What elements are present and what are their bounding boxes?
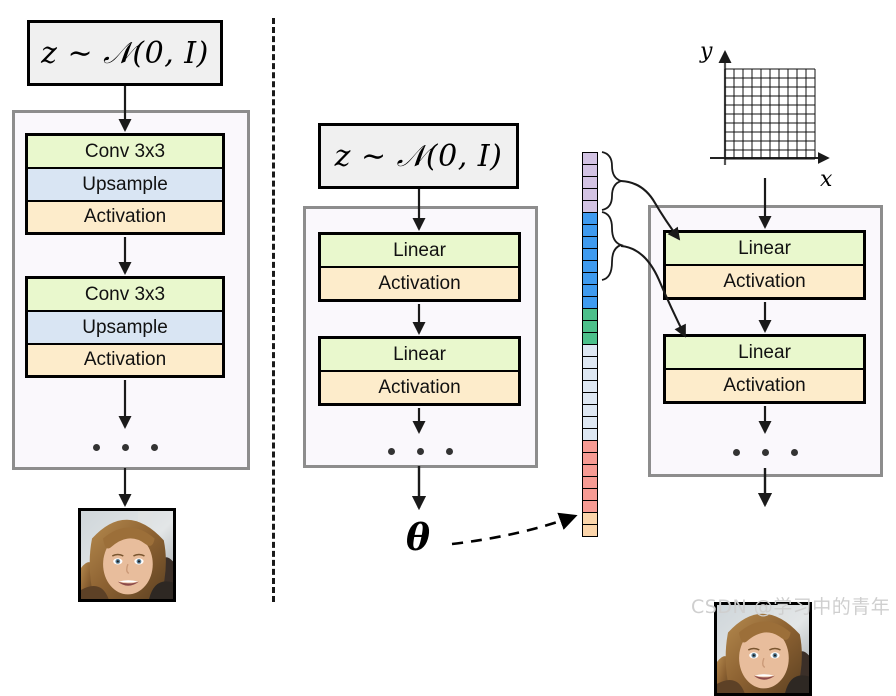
middle-ellipsis xyxy=(380,444,460,458)
vector-cell xyxy=(583,177,597,189)
right-block-2: Linear Activation xyxy=(663,334,866,404)
vector-cell xyxy=(583,261,597,273)
layer-activation: Activation xyxy=(28,202,222,232)
vector-cell xyxy=(583,441,597,453)
layer-linear: Linear xyxy=(321,339,518,370)
vector-cell xyxy=(583,321,597,333)
layer-linear: Linear xyxy=(666,233,863,264)
layer-activation: Activation xyxy=(28,345,222,375)
vector-cell xyxy=(583,309,597,321)
vector-cell xyxy=(583,333,597,345)
vector-cell xyxy=(583,525,597,536)
vector-cell xyxy=(583,453,597,465)
vector-cell xyxy=(583,405,597,417)
vector-cell xyxy=(583,297,597,309)
watermark: CSDN @学习中的青年 xyxy=(691,592,890,619)
left-output-photo xyxy=(78,508,176,602)
right-block-1: Linear Activation xyxy=(663,230,866,300)
middle-latent-label: z ∼ 𝒩(0, I) xyxy=(335,139,503,174)
vector-cell xyxy=(583,513,597,525)
middle-latent-box: z ∼ 𝒩(0, I) xyxy=(318,123,519,189)
layer-linear: Linear xyxy=(666,337,863,368)
brace-group-2 xyxy=(602,212,621,280)
layer-linear: Linear xyxy=(321,235,518,266)
layer-upsample: Upsample xyxy=(28,312,222,342)
grid-x-label: x xyxy=(820,167,833,192)
vector-cell xyxy=(583,153,597,165)
portrait-illustration xyxy=(81,511,173,599)
vector-cell xyxy=(583,393,597,405)
layer-upsample: Upsample xyxy=(28,169,222,199)
vector-cell xyxy=(583,369,597,381)
layer-activation: Activation xyxy=(321,372,518,403)
arrow-theta-to-vector xyxy=(452,516,575,544)
figure-canvas: z ∼ 𝒩(0, I) Conv 3x3 Upsample Activation… xyxy=(0,0,896,621)
vector-cell xyxy=(583,237,597,249)
right-ellipsis xyxy=(725,445,805,459)
vector-cell xyxy=(583,285,597,297)
grid-y-label: y xyxy=(699,39,713,64)
middle-block-2: Linear Activation xyxy=(318,336,521,406)
left-ellipsis xyxy=(85,440,165,454)
vector-cell xyxy=(583,165,597,177)
middle-block-1: Linear Activation xyxy=(318,232,521,302)
vector-cell xyxy=(583,225,597,237)
panel-divider xyxy=(272,18,275,602)
vector-cell xyxy=(583,249,597,261)
vector-cell xyxy=(583,345,597,357)
vector-cell xyxy=(583,477,597,489)
layer-activation: Activation xyxy=(666,370,863,401)
vector-cell xyxy=(583,501,597,513)
vector-cell xyxy=(583,465,597,477)
left-block-2: Conv 3x3 Upsample Activation xyxy=(25,276,225,378)
vector-cell xyxy=(583,273,597,285)
vector-cell xyxy=(583,189,597,201)
grid-lines xyxy=(725,69,815,159)
brace-group-1 xyxy=(602,152,621,210)
left-block-1: Conv 3x3 Upsample Activation xyxy=(25,133,225,235)
vector-cell xyxy=(583,213,597,225)
vector-cell xyxy=(583,489,597,501)
vector-cell xyxy=(583,357,597,369)
vector-cell xyxy=(583,429,597,441)
theta-label: θ xyxy=(396,516,440,560)
left-latent-box: z ∼ 𝒩(0, I) xyxy=(27,20,223,86)
vector-cell xyxy=(583,201,597,213)
layer-activation: Activation xyxy=(666,266,863,297)
coordinate-grid: y x xyxy=(699,39,833,192)
vector-cell xyxy=(583,381,597,393)
left-latent-label: z ∼ 𝒩(0, I) xyxy=(41,36,209,71)
layer-activation: Activation xyxy=(321,268,518,299)
layer-conv: Conv 3x3 xyxy=(28,136,222,167)
parameter-vector xyxy=(582,152,598,537)
layer-conv: Conv 3x3 xyxy=(28,279,222,310)
vector-cell xyxy=(583,417,597,429)
